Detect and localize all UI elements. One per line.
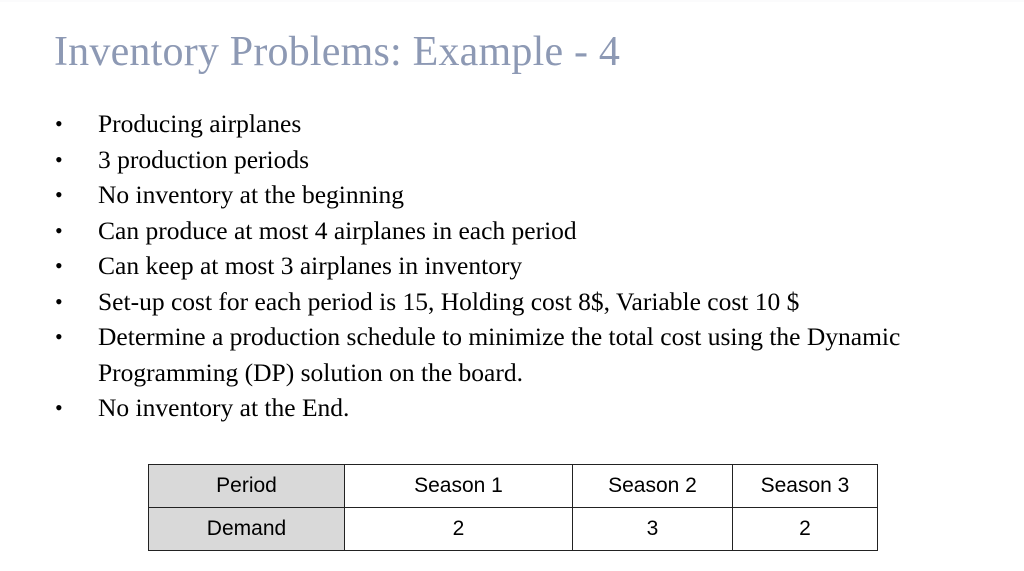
table-cell: Season 1	[345, 465, 573, 508]
table-cell: Season 2	[573, 465, 733, 508]
slide-canvas: Inventory Problems: Example - 4 • Produc…	[0, 0, 1024, 571]
list-item-text: 3 production periods	[98, 142, 988, 178]
table-row: Demand 2 3 2	[149, 508, 878, 551]
bullet-point-icon: •	[50, 213, 98, 249]
table-cell: 3	[573, 508, 733, 551]
list-item: • Can produce at most 4 airplanes in eac…	[50, 213, 1000, 249]
list-item-text: No inventory at the End.	[98, 390, 988, 426]
bullet-point-icon: •	[50, 106, 98, 142]
bullet-point-icon: •	[50, 177, 98, 213]
list-item: • Set-up cost for each period is 15, Hol…	[50, 284, 1000, 320]
table-row-header: Period	[149, 465, 345, 508]
list-item-text: Determine a production schedule to minim…	[98, 319, 988, 390]
bullet-point-icon: •	[50, 284, 98, 320]
bullet-point-icon: •	[50, 142, 98, 178]
list-item-text: No inventory at the beginning	[98, 177, 988, 213]
list-item: • Determine a production schedule to min…	[50, 319, 1000, 390]
demand-table: Period Season 1 Season 2 Season 3 Demand…	[148, 464, 878, 551]
list-item-text: Producing airplanes	[98, 106, 988, 142]
list-item: • No inventory at the beginning	[50, 177, 1000, 213]
list-item: • No inventory at the End.	[50, 390, 1000, 426]
list-item: • Can keep at most 3 airplanes in invent…	[50, 248, 1000, 284]
table-row: Period Season 1 Season 2 Season 3	[149, 465, 878, 508]
list-item-text: Can keep at most 3 airplanes in inventor…	[98, 248, 988, 284]
bullet-point-icon: •	[50, 319, 98, 355]
list-item-text: Set-up cost for each period is 15, Holdi…	[98, 284, 988, 320]
bullet-list: • Producing airplanes • 3 production per…	[50, 106, 1000, 426]
table-cell: 2	[733, 508, 878, 551]
list-item: • Producing airplanes	[50, 106, 1000, 142]
bullet-point-icon: •	[50, 248, 98, 284]
table-row-header: Demand	[149, 508, 345, 551]
page-title: Inventory Problems: Example - 4	[54, 26, 620, 78]
list-item: • 3 production periods	[50, 142, 1000, 178]
slide-top-edge	[0, 0, 1024, 2]
bullet-point-icon: •	[50, 390, 98, 426]
table-cell: 2	[345, 508, 573, 551]
table-cell: Season 3	[733, 465, 878, 508]
list-item-text: Can produce at most 4 airplanes in each …	[98, 213, 988, 249]
